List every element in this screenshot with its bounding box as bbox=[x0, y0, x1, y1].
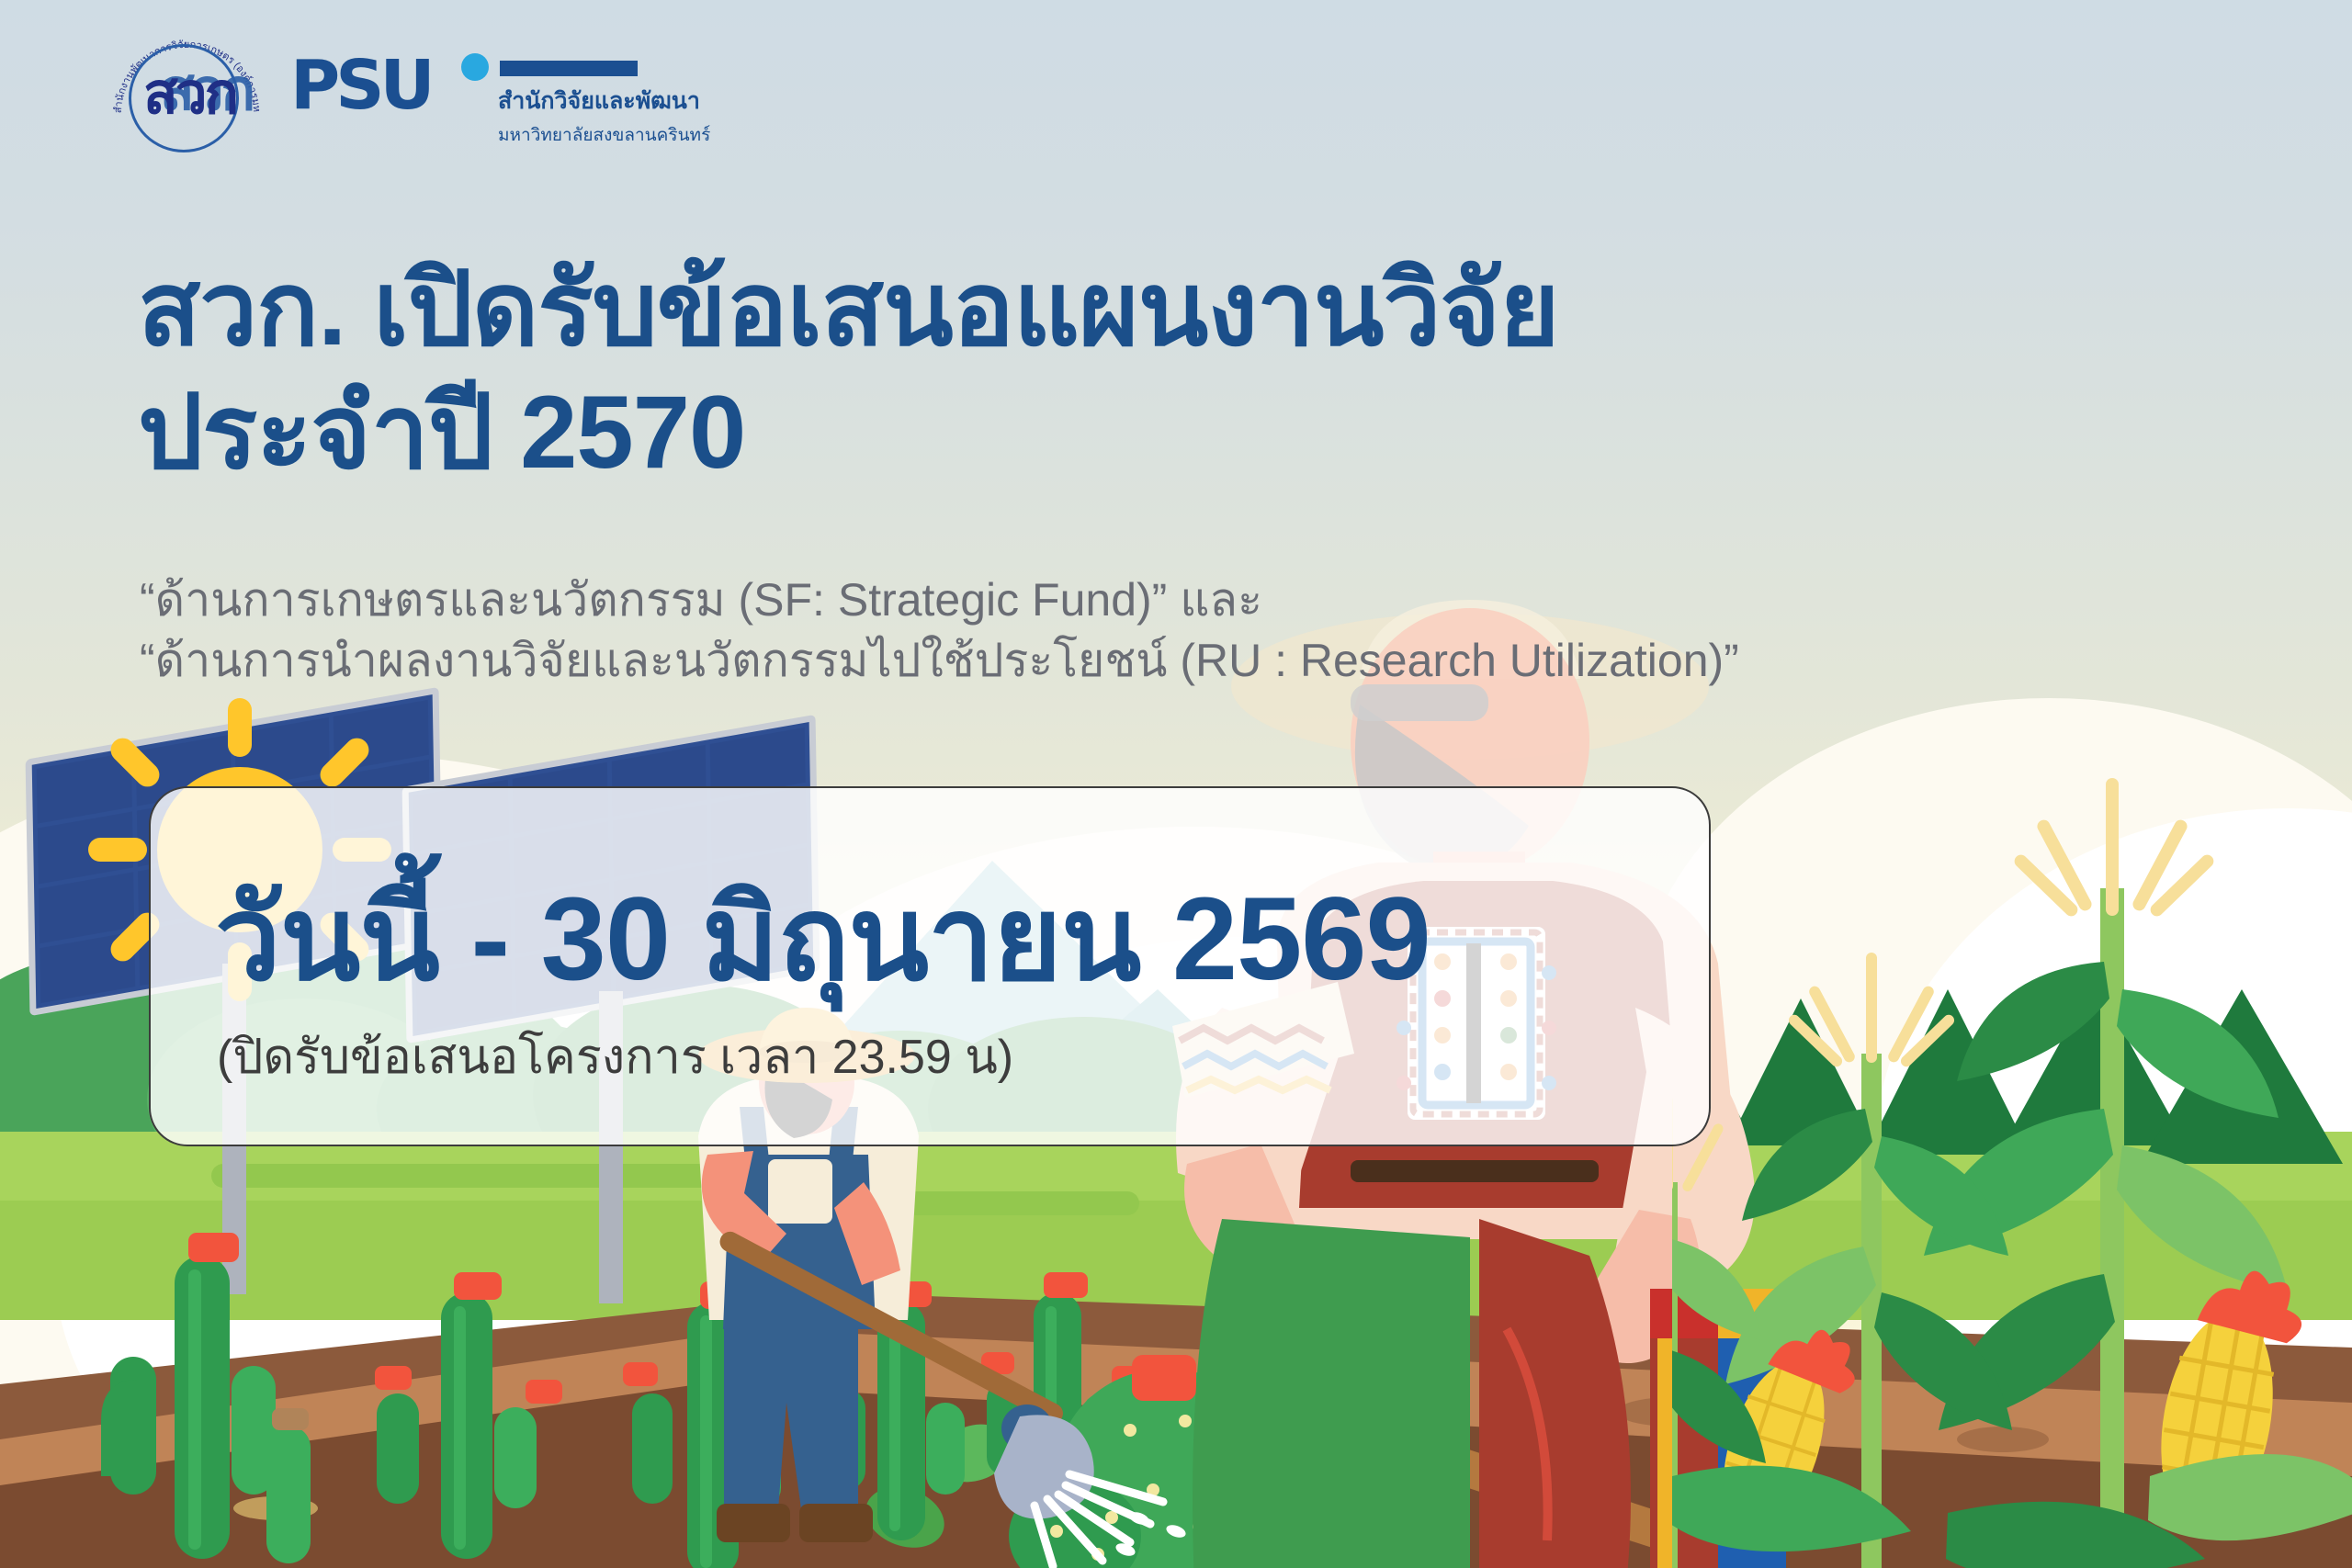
subtitle: “ด้านการเกษตรและนวัตกรรม (SF: Strategic … bbox=[140, 570, 1739, 691]
psu-wordmark: PSU bbox=[290, 55, 431, 117]
subtitle-line-2: “ด้านการนำผลงานวิจัยและนวัตกรรมไปใช้ประโ… bbox=[140, 630, 1739, 691]
headline-line-1: สวก. เปิดรับข้อเสนอแผนงานวิจัย bbox=[138, 250, 1559, 369]
farmer-boot bbox=[799, 1504, 873, 1542]
headline: สวก. เปิดรับข้อเสนอแผนงานวิจัย ประจำปี 2… bbox=[138, 250, 1559, 492]
corn-stalk bbox=[1924, 778, 2310, 1568]
corn-tassel bbox=[1786, 953, 1956, 1069]
corn-leaf bbox=[1742, 1109, 1872, 1221]
overall-pocket bbox=[768, 1159, 832, 1224]
arda-monogram: สวก bbox=[143, 66, 236, 123]
sun-ray bbox=[315, 733, 374, 792]
subtitle-line-1: “ด้านการเกษตรและนวัตกรรม (SF: Strategic … bbox=[140, 570, 1739, 630]
farmer2-skirt bbox=[1193, 1219, 1470, 1568]
corn-leaf bbox=[1672, 1237, 1762, 1340]
cactus bbox=[101, 1233, 276, 1559]
sun-ray bbox=[228, 698, 252, 757]
psu-line1: สำนักวิจัยและพัฒนา bbox=[498, 83, 710, 119]
logo-bar: สำนักงานพัฒนาการวิจัยการเกษตร (องค์การมห… bbox=[108, 39, 658, 153]
headline-line-2: ประจำปี 2570 bbox=[138, 373, 1559, 492]
psu-line2: มหาวิทยาลัยสงขลานครินทร์ bbox=[498, 121, 710, 149]
arda-logo: สำนักงานพัฒนาการวิจัยการเกษตร (องค์การมห… bbox=[108, 39, 266, 153]
corn-leaf bbox=[2117, 1145, 2288, 1292]
poster-root: สำนักงานพัฒนาการวิจัยการเกษตร (องค์การมห… bbox=[0, 0, 2352, 1568]
psu-subtitle: สำนักวิจัยและพัฒนา มหาวิทยาลัยสงขลานคริน… bbox=[498, 83, 710, 149]
psu-logo: PSU สำนักวิจัยและพัฒนา มหาวิทยาลัยสงขลาน… bbox=[290, 39, 658, 153]
sun-ray bbox=[88, 838, 147, 862]
date-card: วันนี้ - 30 มิถุนายน 2569 (ปิดรับข้อเสนอ… bbox=[149, 786, 1711, 1146]
farmer-legs bbox=[724, 1302, 858, 1522]
corn-tassel bbox=[2012, 778, 2216, 919]
farmer-boot bbox=[717, 1504, 790, 1542]
cactus bbox=[375, 1272, 562, 1559]
deadline-note: (ปิดรับข้อเสนอโครงการ เวลา 23.59 น) bbox=[217, 1018, 1013, 1094]
psu-bar-icon bbox=[500, 61, 638, 76]
corn-leaf bbox=[2117, 989, 2278, 1118]
deadline-date: วันนี้ - 30 มิถุนายน 2569 bbox=[215, 845, 1430, 1032]
psu-dot-icon bbox=[461, 53, 489, 81]
farmer2-belt bbox=[1351, 1160, 1599, 1182]
sun-ray bbox=[106, 733, 164, 792]
corn-leaf bbox=[1957, 962, 2109, 1081]
corn-plants bbox=[1672, 778, 2352, 1568]
